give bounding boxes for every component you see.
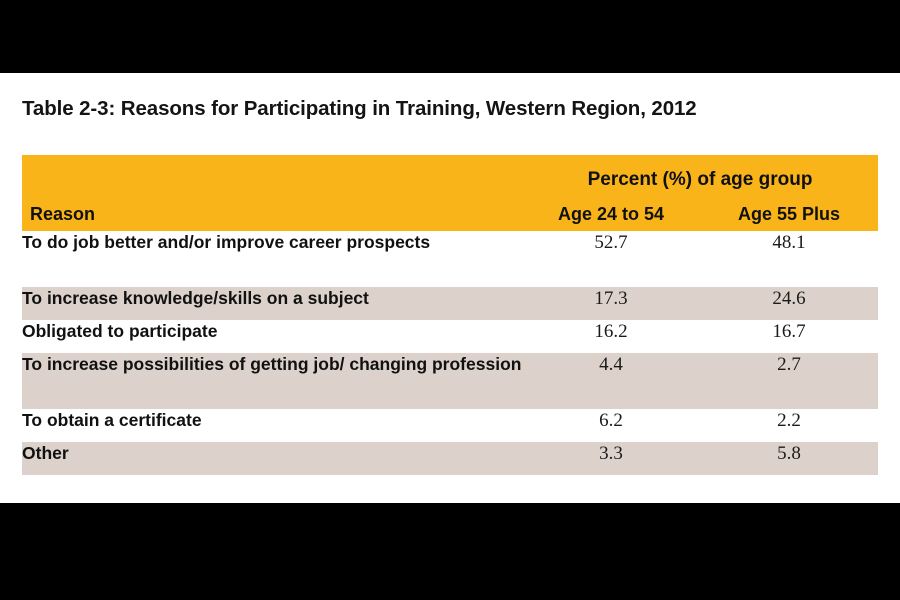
cell-age-24-to-54: 3.3 — [522, 442, 700, 475]
cell-reason: To increase possibilities of getting job… — [22, 353, 522, 409]
cell-age-24-to-54: 17.3 — [522, 287, 700, 320]
superheader-spacer — [22, 155, 522, 190]
page-title: Table 2-3: Reasons for Participating in … — [22, 97, 882, 121]
table-body: To do job better and/or improve career p… — [22, 231, 878, 475]
table-row: Obligated to participate 16.2 16.7 — [22, 320, 878, 353]
cell-reason: Other — [22, 442, 522, 475]
cell-age-24-to-54: 52.7 — [522, 231, 700, 287]
data-table: Percent (%) of age group Reason Age 24 t… — [22, 155, 878, 475]
table-row: Other 3.3 5.8 — [22, 442, 878, 475]
superheader-percent-of-age-group: Percent (%) of age group — [522, 155, 878, 190]
cell-age-24-to-54: 4.4 — [522, 353, 700, 409]
column-header-age-24-to-54: Age 24 to 54 — [522, 190, 700, 231]
cell-reason: To increase knowledge/skills on a subjec… — [22, 287, 522, 320]
letterbox-bar-bottom — [0, 503, 900, 600]
column-header-reason: Reason — [22, 190, 522, 231]
column-header-age-55-plus: Age 55 Plus — [700, 190, 878, 231]
letterbox-bar-top — [0, 0, 900, 73]
table-column-header-row: Reason Age 24 to 54 Age 55 Plus — [22, 190, 878, 231]
cell-reason: To obtain a certificate — [22, 409, 522, 442]
table-row: To obtain a certificate 6.2 2.2 — [22, 409, 878, 442]
document-canvas: Table 2-3: Reasons for Participating in … — [0, 73, 900, 503]
cell-age-55-plus: 48.1 — [700, 231, 878, 287]
table-row: To increase possibilities of getting job… — [22, 353, 878, 409]
cell-age-55-plus: 16.7 — [700, 320, 878, 353]
cell-age-55-plus: 2.7 — [700, 353, 878, 409]
table-row: To increase knowledge/skills on a subjec… — [22, 287, 878, 320]
cell-age-55-plus: 5.8 — [700, 442, 878, 475]
cell-reason: To do job better and/or improve career p… — [22, 231, 522, 287]
page-root: Table 2-3: Reasons for Participating in … — [0, 0, 900, 600]
cell-reason: Obligated to participate — [22, 320, 522, 353]
table-header: Percent (%) of age group Reason Age 24 t… — [22, 155, 878, 231]
table-row: To do job better and/or improve career p… — [22, 231, 878, 287]
table-superheader-row: Percent (%) of age group — [22, 155, 878, 190]
cell-age-55-plus: 24.6 — [700, 287, 878, 320]
cell-age-24-to-54: 16.2 — [522, 320, 700, 353]
cell-age-55-plus: 2.2 — [700, 409, 878, 442]
cell-age-24-to-54: 6.2 — [522, 409, 700, 442]
